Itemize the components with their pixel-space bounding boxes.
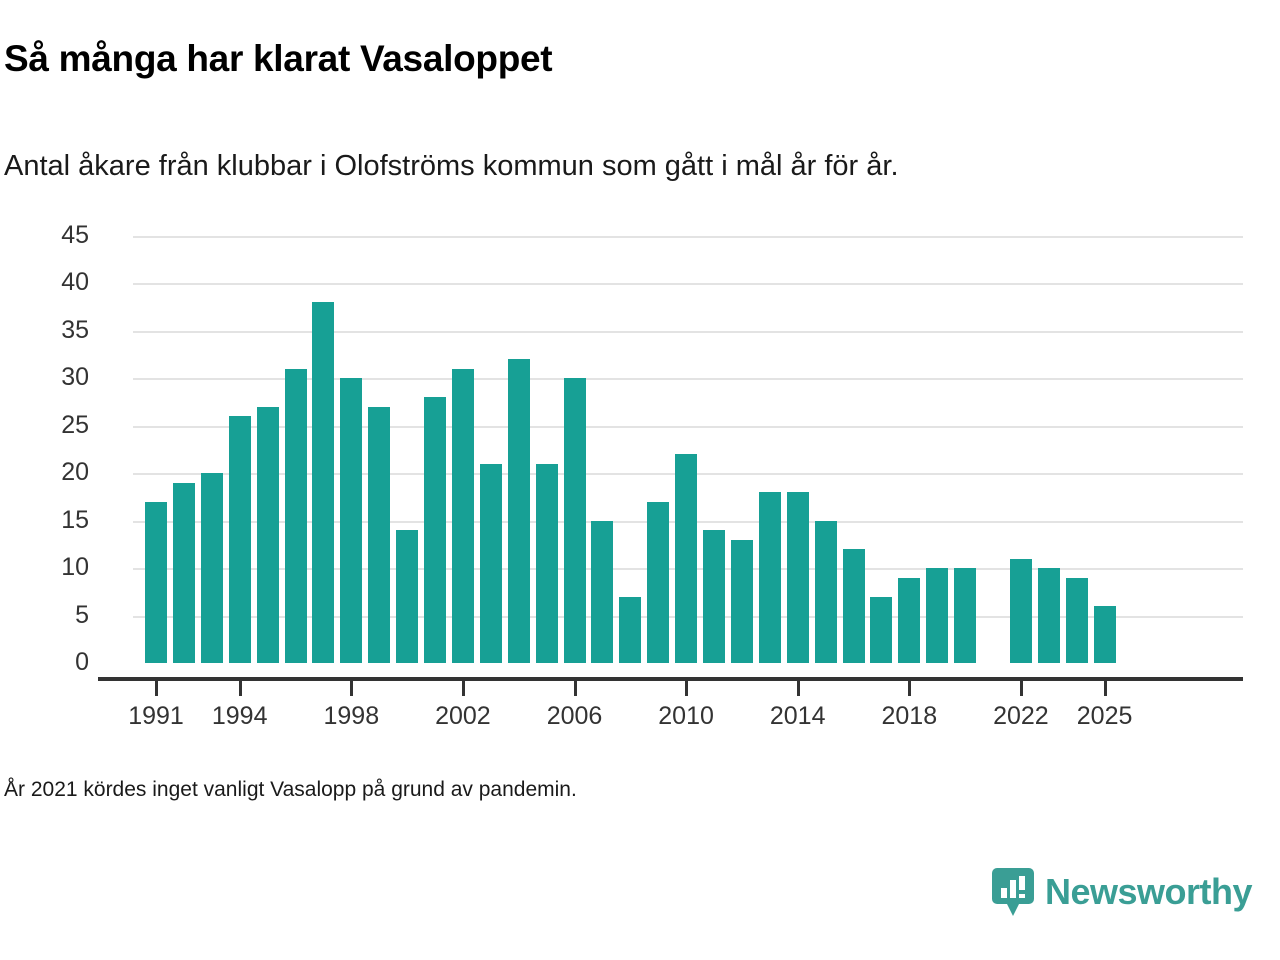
bar[interactable] [731, 540, 753, 663]
y-tick-label: 40 [19, 270, 89, 295]
x-tick-mark [908, 681, 911, 696]
y-tick-label: 30 [19, 365, 89, 390]
x-tick-label: 1998 [291, 702, 411, 731]
bar[interactable] [954, 568, 976, 663]
y-tick-label: 0 [19, 650, 89, 675]
bar[interactable] [480, 464, 502, 663]
chart-footnote: År 2021 kördes inget vanligt Vasalopp på… [4, 778, 577, 802]
y-tick-label: 15 [19, 508, 89, 533]
x-tick-mark [155, 681, 158, 696]
bar[interactable] [647, 502, 669, 663]
bar[interactable] [591, 521, 613, 663]
x-tick-mark [462, 681, 465, 696]
bar[interactable] [508, 359, 530, 663]
bar[interactable] [257, 407, 279, 663]
y-tick-label: 10 [19, 555, 89, 580]
bar[interactable] [843, 549, 865, 663]
plot-area [133, 236, 1243, 663]
y-tick-label: 35 [19, 318, 89, 343]
chart-title: Så många har klarat Vasaloppet [4, 38, 552, 80]
bar[interactable] [340, 378, 362, 663]
bar[interactable] [787, 492, 809, 663]
bar[interactable] [396, 530, 418, 663]
bar[interactable] [675, 454, 697, 663]
x-tick-label: 2014 [738, 702, 858, 731]
bar[interactable] [926, 568, 948, 663]
x-tick-label: 2025 [1045, 702, 1165, 731]
x-tick-label: 2006 [515, 702, 635, 731]
bar[interactable] [229, 416, 251, 663]
x-tick-label: 2002 [403, 702, 523, 731]
newsworthy-logo[interactable]: Newsworthy [992, 868, 1252, 916]
bar-chart-speech-bubble-icon [992, 868, 1034, 916]
x-tick-mark [574, 681, 577, 696]
y-tick-label: 20 [19, 460, 89, 485]
x-tick-mark [797, 681, 800, 696]
y-tick-label: 45 [19, 223, 89, 248]
y-tick-label: 25 [19, 413, 89, 438]
x-tick-mark [685, 681, 688, 696]
x-tick-label: 2018 [849, 702, 969, 731]
bar[interactable] [201, 473, 223, 663]
bar[interactable] [452, 369, 474, 663]
bar[interactable] [145, 502, 167, 663]
bar[interactable] [870, 597, 892, 663]
bar[interactable] [619, 597, 641, 663]
x-tick-mark [239, 681, 242, 696]
x-axis-line [98, 677, 1243, 681]
bar[interactable] [368, 407, 390, 663]
bar[interactable] [815, 521, 837, 663]
bar[interactable] [1094, 606, 1116, 663]
bar[interactable] [1038, 568, 1060, 663]
bar[interactable] [1066, 578, 1088, 663]
bar[interactable] [898, 578, 920, 663]
bar[interactable] [536, 464, 558, 663]
bar[interactable] [759, 492, 781, 663]
bar[interactable] [1010, 559, 1032, 663]
bar[interactable] [312, 302, 334, 663]
x-tick-mark [1020, 681, 1023, 696]
bar-chart: 051015202530354045 199119941998200220062… [0, 222, 1280, 722]
x-tick-label: 1994 [180, 702, 300, 731]
bar[interactable] [285, 369, 307, 663]
x-tick-label: 2010 [626, 702, 746, 731]
x-tick-mark [1104, 681, 1107, 696]
bar[interactable] [564, 378, 586, 663]
bar[interactable] [173, 483, 195, 663]
x-tick-mark [350, 681, 353, 696]
y-tick-label: 5 [19, 603, 89, 628]
bar[interactable] [424, 397, 446, 663]
logo-wordmark: Newsworthy [1045, 871, 1252, 913]
chart-subtitle: Antal åkare från klubbar i Olofströms ko… [4, 150, 899, 183]
bar[interactable] [703, 530, 725, 663]
